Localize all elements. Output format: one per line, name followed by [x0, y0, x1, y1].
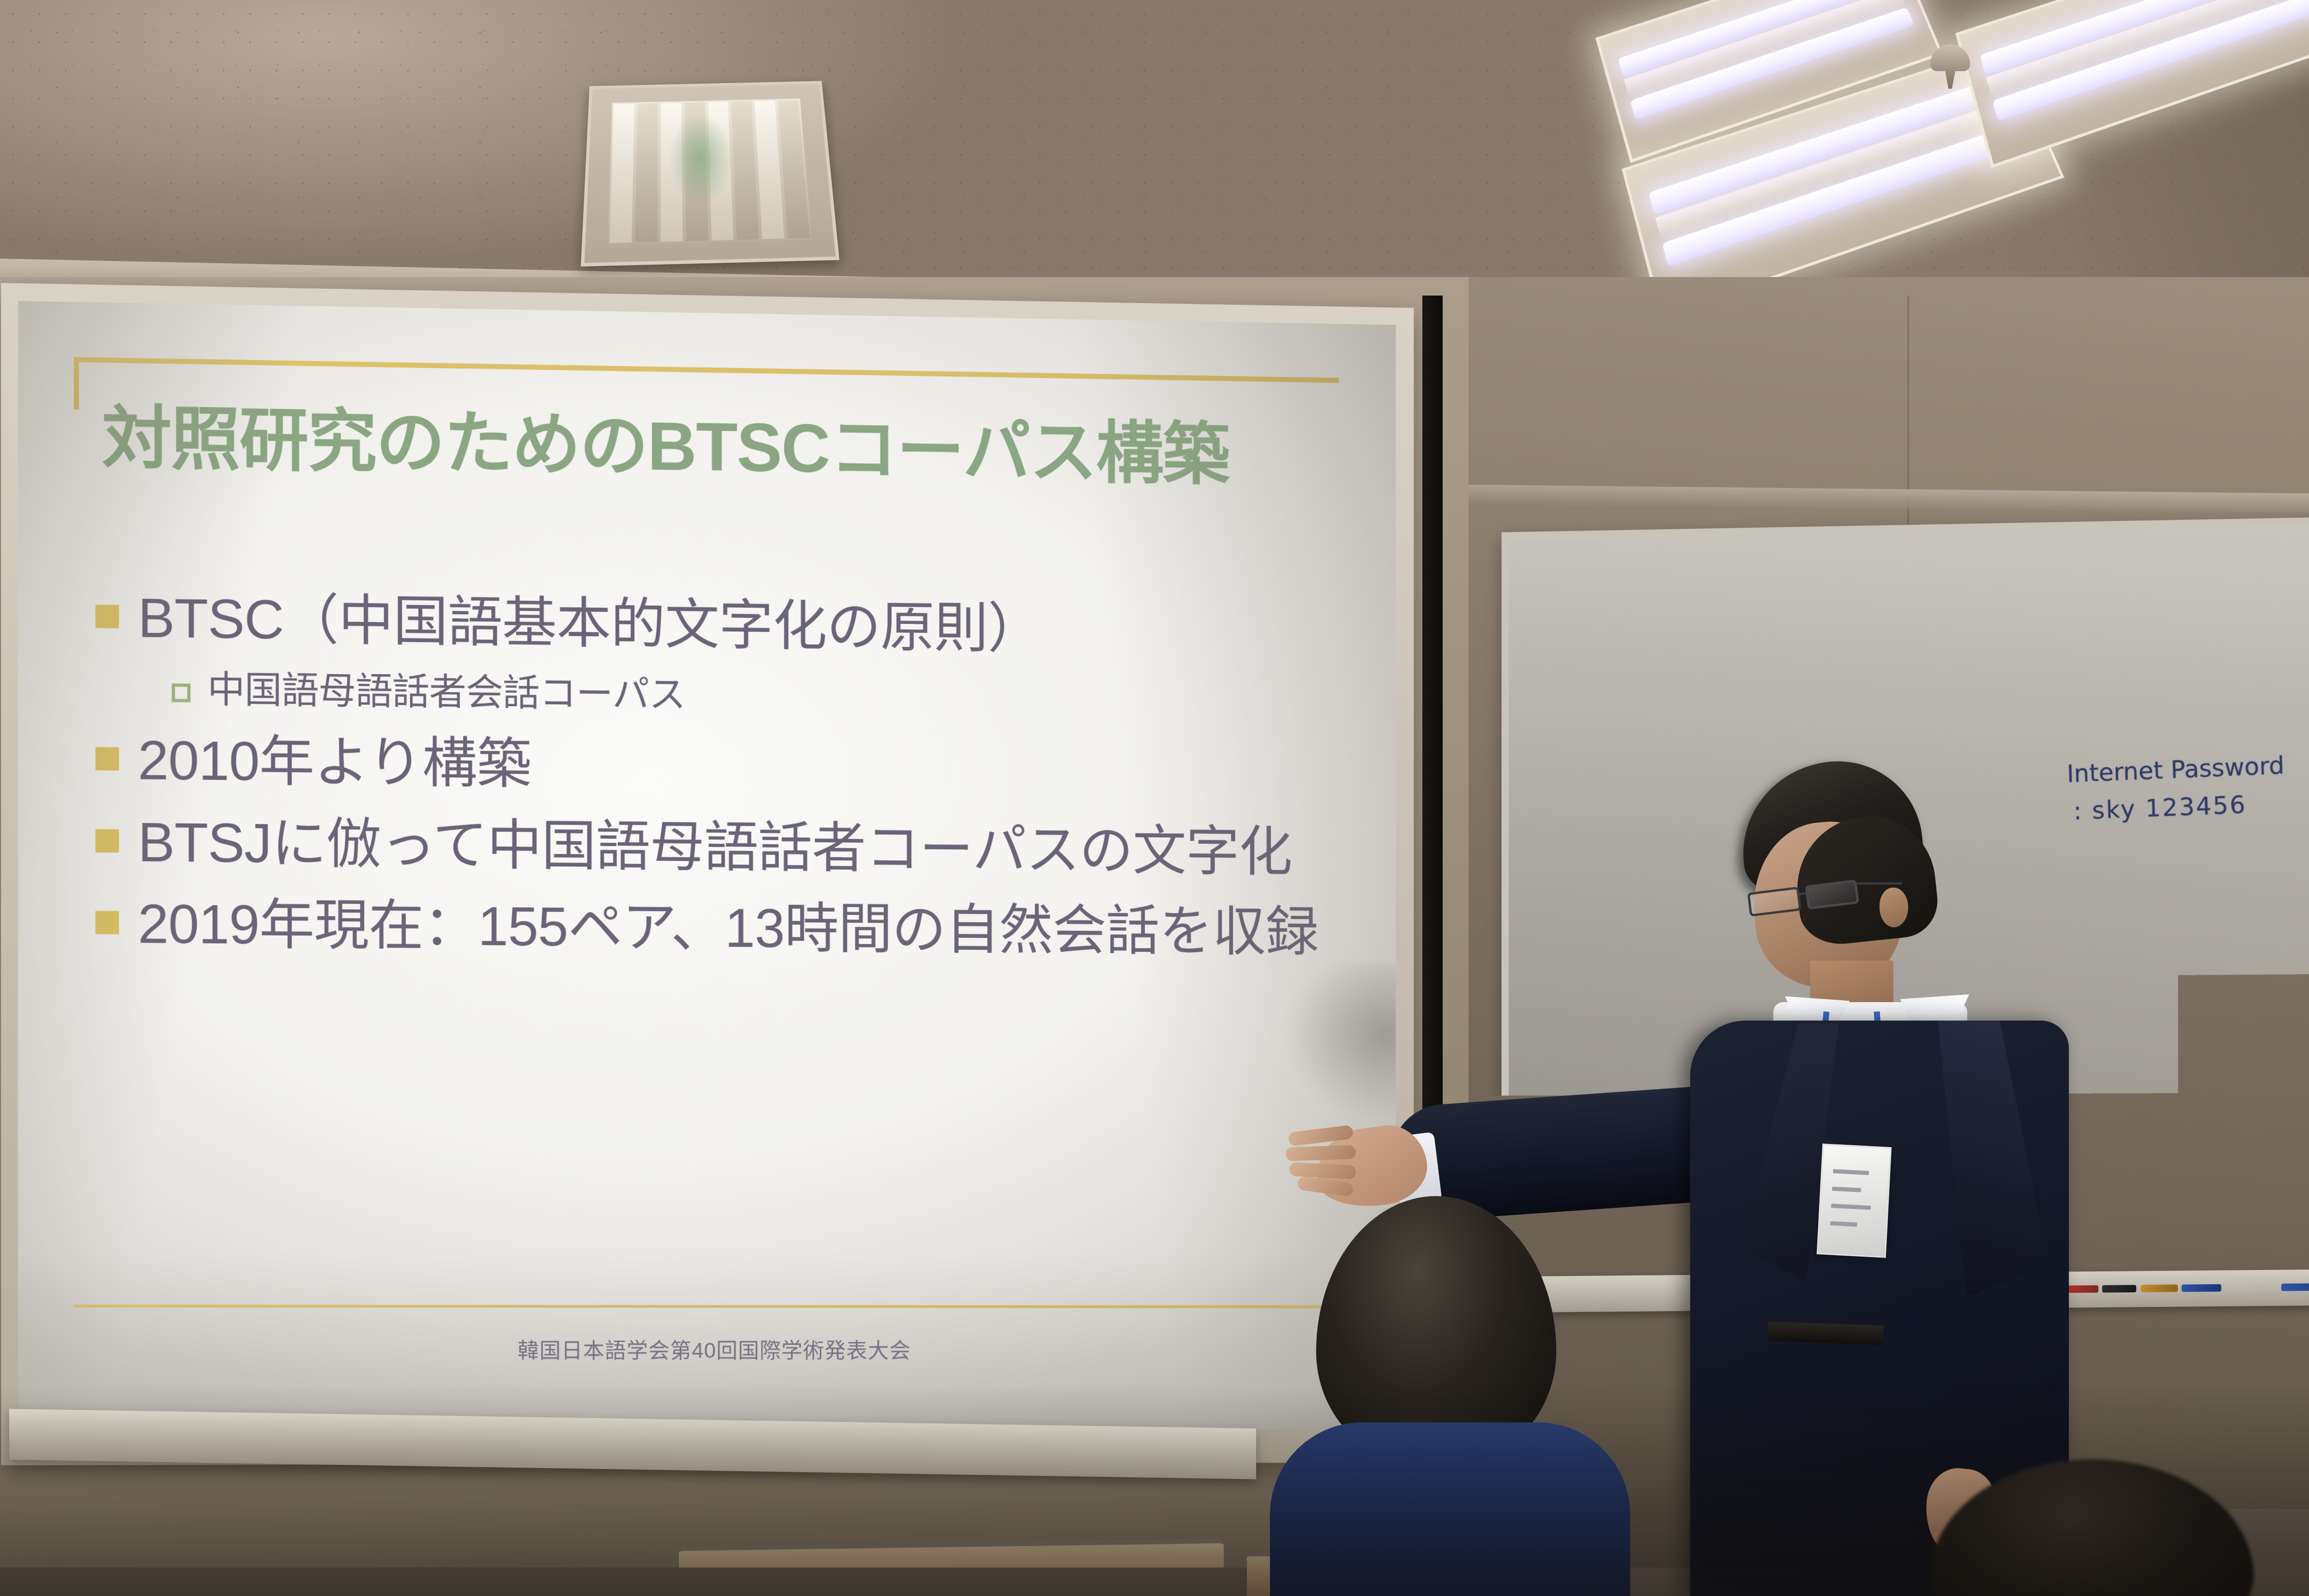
conference-room-photo: Internet Password : sky 123456 対照研究のためのB… [0, 0, 2309, 1596]
bullet-text: 中国語母語話者会話コーパス [207, 665, 685, 719]
audience-member [1930, 1459, 2281, 1596]
bullet-text: 2010年より構築 [138, 725, 531, 800]
presenter-ear [1880, 888, 1908, 927]
projection-screen: 対照研究のためのBTSCコーパス構築 BTSC（中国語基本的文字化の原則） 中国… [18, 301, 1396, 1432]
bullet-item: 2010年より構築 [89, 725, 1362, 808]
bullet-marker-level1-icon [96, 911, 119, 934]
audience-table [679, 1539, 1224, 1596]
bullet-text: BTSJに倣って中国語母語話者コーパスの文字化 [138, 807, 1292, 888]
ceiling-light-unlit-icon [581, 81, 840, 266]
bullet-marker-level1-icon [96, 605, 119, 628]
bullet-text: BTSC（中国語基本的文字化の原則） [138, 583, 1041, 665]
slide-title: 対照研究のためのBTSCコーパス構築 [102, 398, 1348, 496]
bullet-item: BTSJに倣って中国語母語話者コーパスの文字化 [89, 807, 1362, 889]
blue-marker-icon [2281, 1283, 2309, 1291]
bullet-marker-level2-icon [172, 683, 191, 702]
bullet-marker-level1-icon [96, 829, 119, 852]
slide-top-rule [74, 357, 1339, 383]
slide-bullet-list: BTSC（中国語基本的文字化の原則） 中国語母語話者会話コーパス 2010年より… [89, 582, 1362, 979]
name-badge [1817, 1143, 1892, 1258]
bullet-text: 2019年現在：155ペア、13時間の自然会話を収録 [138, 889, 1318, 968]
audience-member [1288, 1196, 1579, 1596]
bullet-marker-level1-icon [96, 747, 119, 771]
audience-shoulders [1270, 1422, 1630, 1596]
sprinkler-head-icon [1930, 44, 1970, 89]
slide-reflection [670, 115, 733, 205]
slide-bottom-rule [74, 1305, 1339, 1308]
projection-screen-frame: 対照研究のためのBTSCコーパス構築 BTSC（中国語基本的文字化の原則） 中国… [1, 283, 1414, 1465]
bullet-item: 中国語母語話者会話コーパス [172, 665, 1362, 726]
presenter-belt [1767, 1322, 1883, 1345]
blue-marker-icon [2182, 1284, 2221, 1292]
slide-corner-bracket [74, 357, 79, 409]
presenter-fingers [1288, 1127, 1362, 1196]
presentation-slide: 対照研究のためのBTSCコーパス構築 BTSC（中国語基本的文字化の原則） 中国… [18, 301, 1396, 1432]
slide-footer: 韓国日本語学会第40回国際学術発表大会 [18, 1334, 1396, 1365]
bullet-item: BTSC（中国語基本的文字化の原則） [89, 582, 1362, 669]
audience-head [1930, 1459, 2254, 1596]
orange-marker-icon [2141, 1285, 2178, 1293]
bullet-item: 2019年現在：155ペア、13時間の自然会話を収録 [89, 889, 1362, 968]
